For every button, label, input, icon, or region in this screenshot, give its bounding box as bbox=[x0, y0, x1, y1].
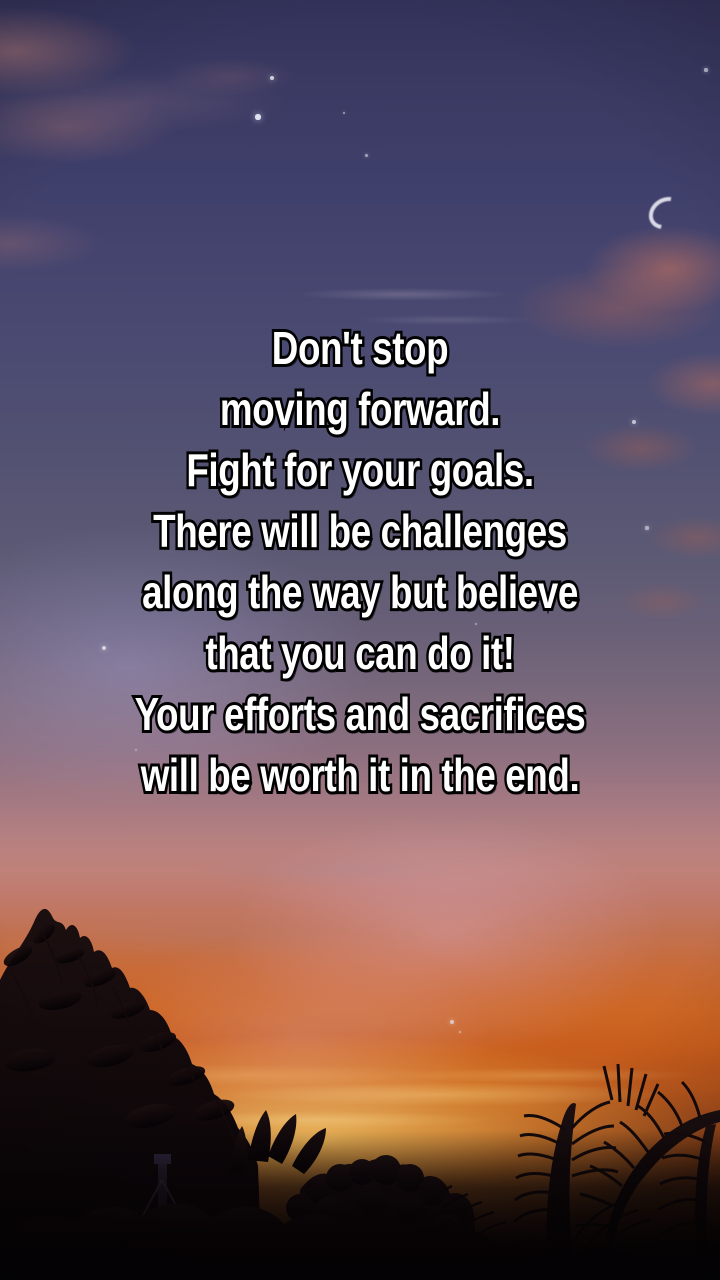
quote-poster: Don't stop moving forward. Fight for you… bbox=[0, 0, 720, 1280]
quote-line-5: along the way but believe bbox=[83, 562, 637, 623]
quote-line-6: that you can do it! bbox=[83, 623, 637, 684]
quote-line-8: will be worth it in the end. bbox=[83, 745, 637, 806]
quote-line-7: Your efforts and sacrifices bbox=[83, 684, 637, 745]
quote-line-3: Fight for your goals. bbox=[83, 440, 637, 501]
quote-line-1: Don't stop bbox=[83, 318, 637, 379]
quote-line-4: There will be challenges bbox=[83, 501, 637, 562]
quote-line-2: moving forward. bbox=[83, 379, 637, 440]
quote-text-block: Don't stop moving forward. Fight for you… bbox=[0, 318, 720, 806]
